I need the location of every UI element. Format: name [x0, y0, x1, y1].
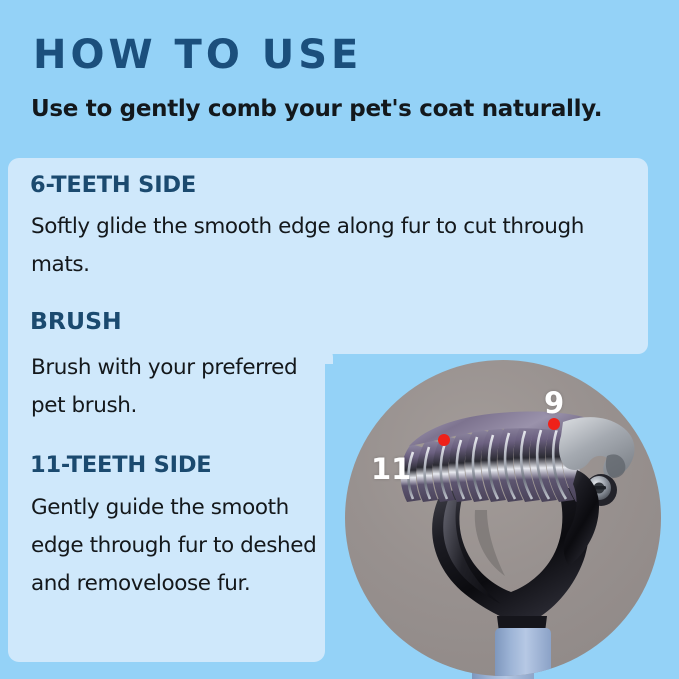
section-body-11-teeth-side: Gently guide the smooth edge through fur…	[31, 489, 321, 603]
tool-handle-inner-reflection	[475, 510, 505, 576]
section-heading-11-teeth-side: 11-TEETH SIDE	[30, 452, 211, 478]
section-body-6-teeth-side: Softly glide the smooth edge along fur t…	[31, 208, 631, 284]
callout-marker-11	[438, 434, 450, 446]
page-subtitle: Use to gently comb your pet's coat natur…	[31, 96, 602, 122]
section-heading-brush: BRUSH	[30, 307, 122, 335]
section-body-brush: Brush with your preferred pet brush.	[31, 349, 321, 425]
callout-label-9: 9	[544, 386, 564, 420]
section-heading-6-teeth-side: 6-TEETH SIDE	[30, 172, 196, 198]
header: HOW TO USE Use to gently comb your pet's…	[0, 0, 679, 152]
how-to-use-infographic: HOW TO USE Use to gently comb your pet's…	[0, 0, 679, 679]
callout-label-11: 11	[371, 452, 411, 486]
tool-grip	[495, 628, 551, 676]
page-title: HOW TO USE	[33, 32, 362, 78]
dematting-tool-illustration	[345, 360, 661, 676]
product-photo	[345, 360, 661, 676]
